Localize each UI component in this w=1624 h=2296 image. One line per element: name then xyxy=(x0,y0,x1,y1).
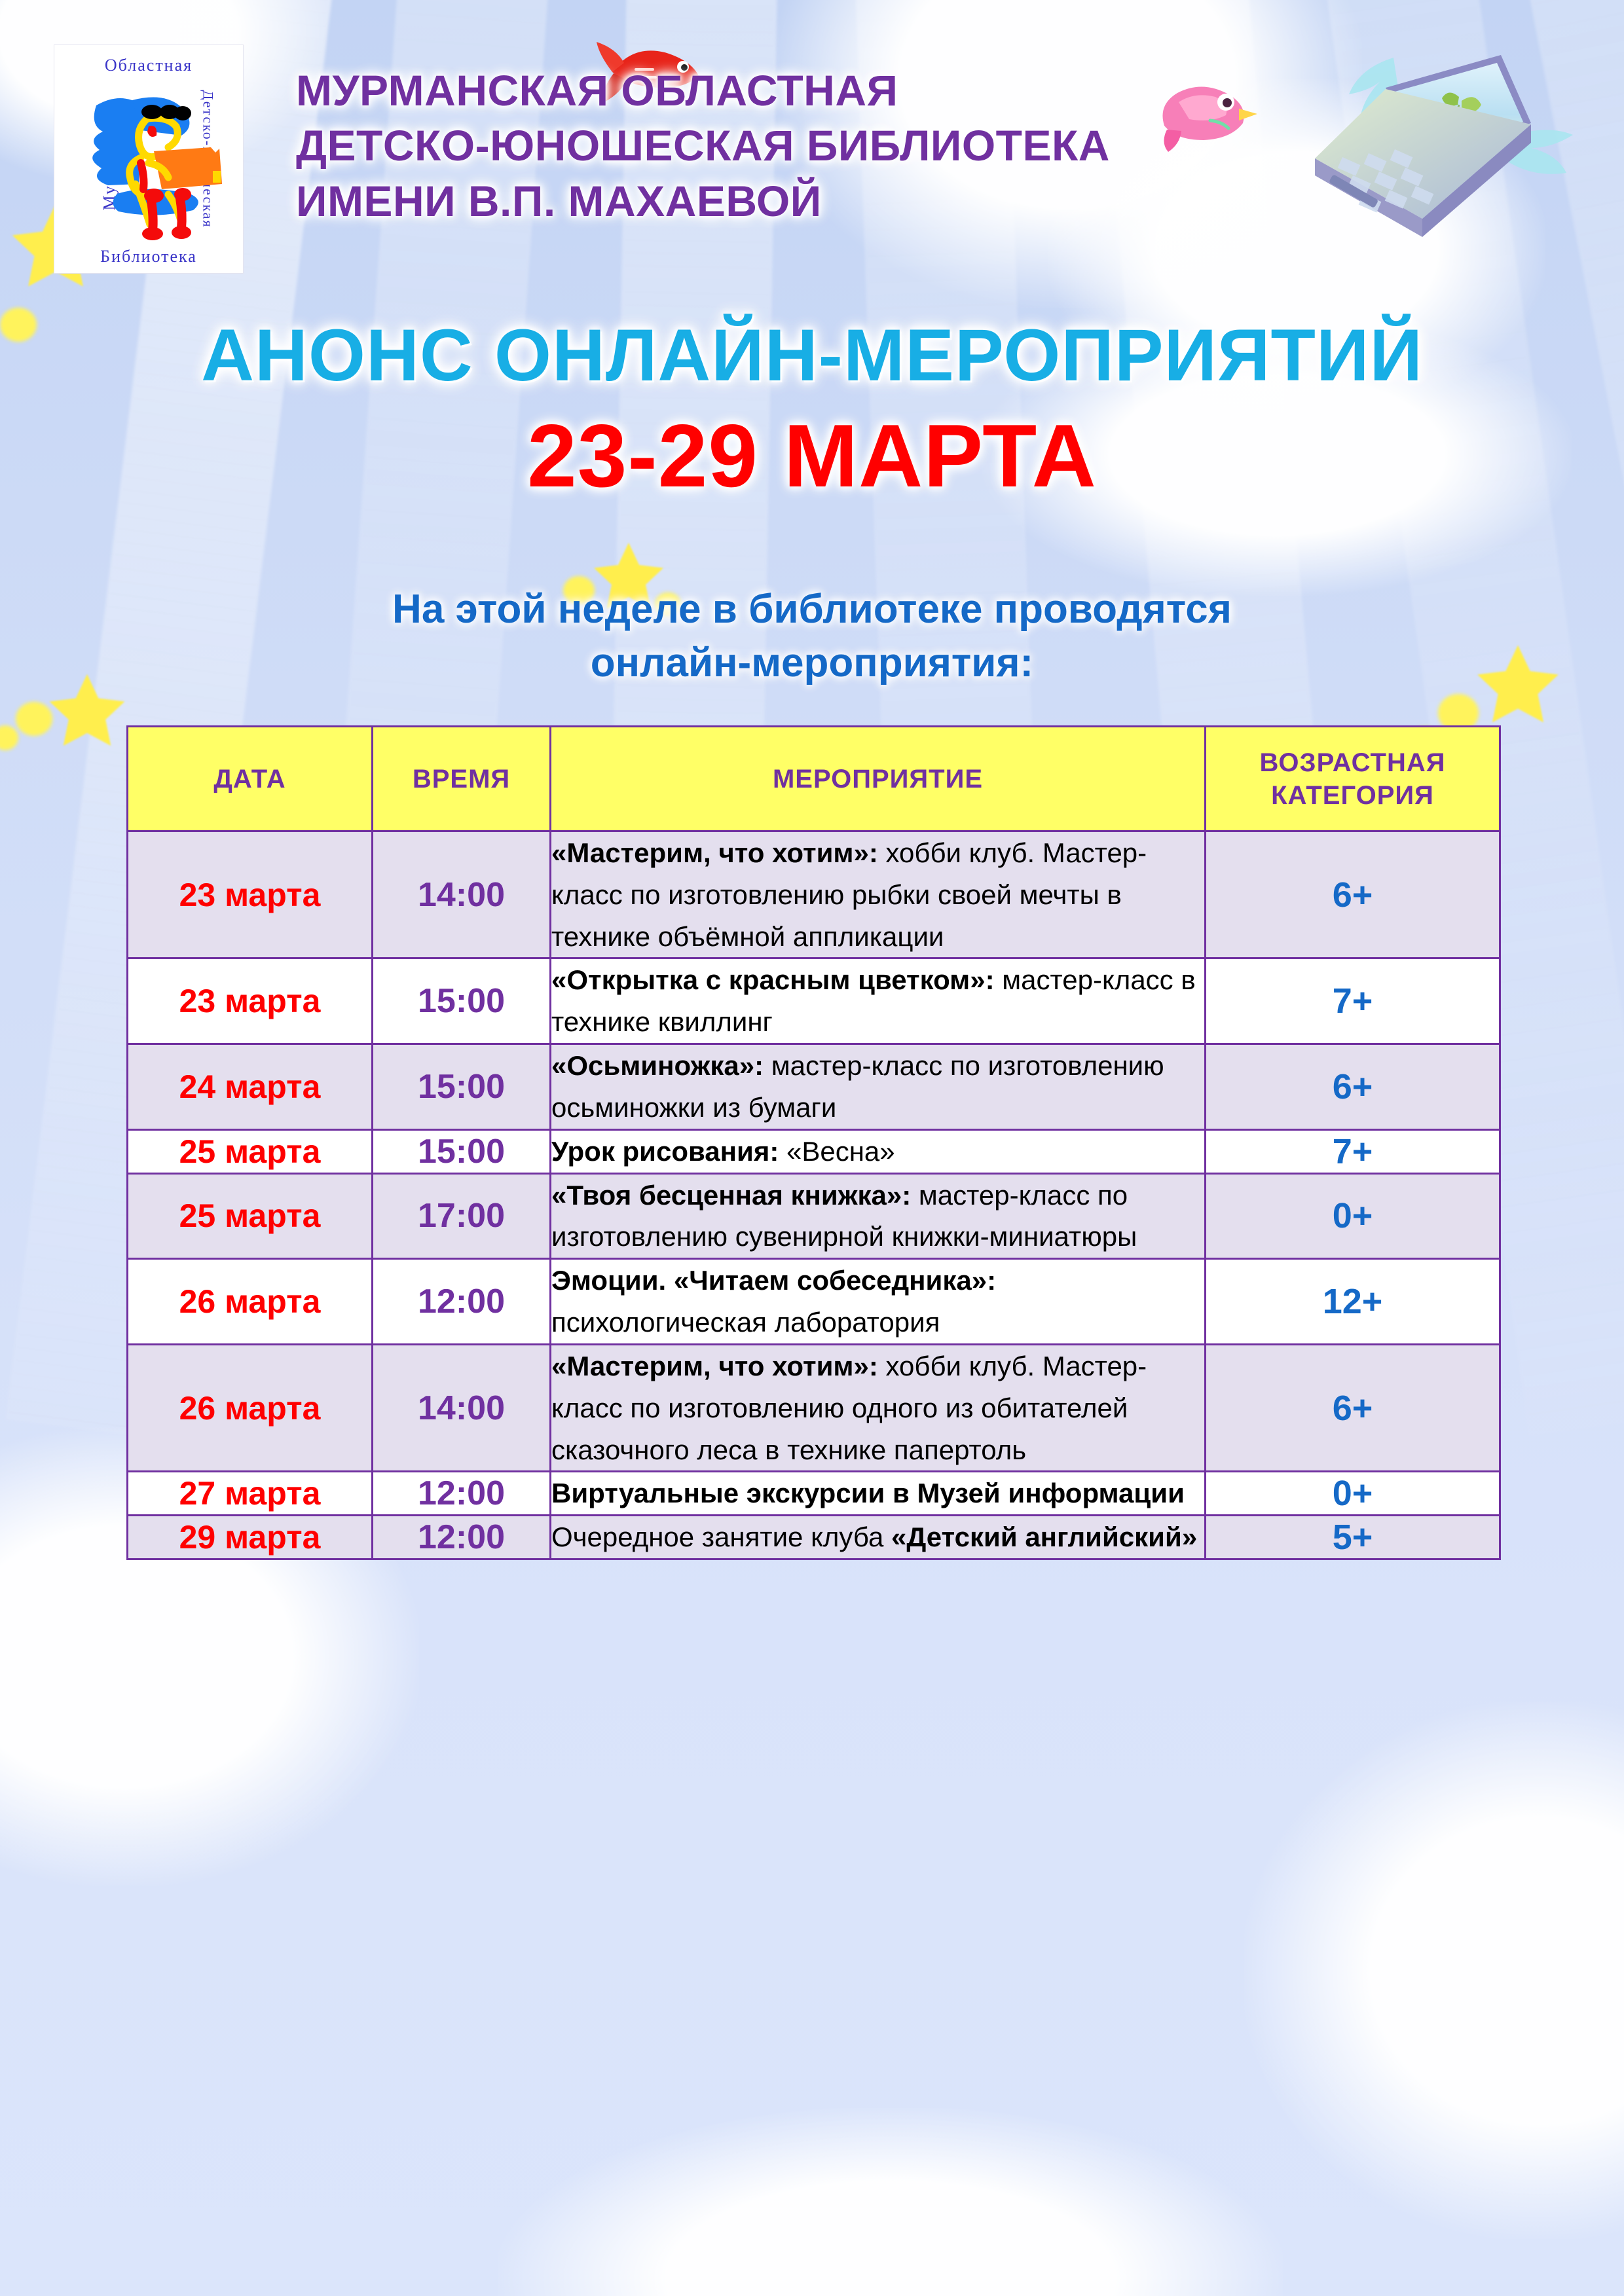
event-detail: психологическая лаборатория xyxy=(551,1307,940,1338)
column-header-date: ДАТА xyxy=(128,727,373,831)
event-date: 25 марта xyxy=(128,1173,373,1259)
age-category: 6+ xyxy=(1206,1044,1500,1130)
age-category: 12+ xyxy=(1206,1259,1500,1345)
event-date: 27 марта xyxy=(128,1472,373,1516)
poster-subtitle: На этой неделе в библиотеке проводятся о… xyxy=(0,583,1624,690)
event-date: 23 марта xyxy=(128,831,373,958)
event-detail: Очередное занятие клуба xyxy=(551,1522,891,1552)
pink-bird-icon xyxy=(1153,65,1264,157)
event-date: 26 марта xyxy=(128,1344,373,1471)
table-row: 24 марта15:00«Осьминожка»: мастер-класс … xyxy=(128,1044,1500,1130)
event-title: Виртуальные экскурсии в Музей информации xyxy=(551,1478,1185,1508)
column-header-time: ВРЕМЯ xyxy=(373,727,551,831)
event-description: Очередное занятие клуба «Детский английс… xyxy=(551,1516,1206,1559)
event-date: 25 марта xyxy=(128,1129,373,1173)
winged-laptop-icon xyxy=(1270,18,1598,280)
column-header-age-line-1: ВОЗРАСТНАЯ xyxy=(1206,746,1499,779)
event-title: «Мастерим, что хотим»: xyxy=(551,1351,878,1381)
age-category: 6+ xyxy=(1206,1344,1500,1471)
event-title: «Мастерим, что хотим»: xyxy=(551,837,878,868)
cloud xyxy=(1244,1702,1624,2239)
event-time: 14:00 xyxy=(373,831,551,958)
table-row: 25 марта17:00«Твоя бесценная книжка»: ма… xyxy=(128,1173,1500,1259)
event-time: 12:00 xyxy=(373,1472,551,1516)
age-category: 7+ xyxy=(1206,1129,1500,1173)
table-header-row: ДАТА ВРЕМЯ МЕРОПРИЯТИЕ ВОЗРАСТНАЯ КАТЕГО… xyxy=(128,727,1500,831)
table-row: 26 марта12:00Эмоции. «Читаем собеседника… xyxy=(128,1259,1500,1345)
age-category: 5+ xyxy=(1206,1516,1500,1559)
event-title-tail: «Детский английский» xyxy=(891,1522,1197,1552)
logo-label-bottom: Библиотека xyxy=(100,247,197,266)
event-description: «Мастерим, что хотим»: хобби клуб. Масте… xyxy=(551,831,1206,958)
event-title: Эмоции. «Читаем собеседника»: xyxy=(551,1265,996,1296)
library-logo: Областная Мурманская Детско-юношеская Би… xyxy=(54,45,244,274)
event-time: 14:00 xyxy=(373,1344,551,1471)
event-time: 15:00 xyxy=(373,958,551,1044)
event-description: Виртуальные экскурсии в Музей информации xyxy=(551,1472,1206,1516)
reading-child-illustration xyxy=(70,79,227,243)
event-title: «Твоя бесценная книжка»: xyxy=(551,1180,911,1211)
event-date: 24 марта xyxy=(128,1044,373,1130)
event-time: 15:00 xyxy=(373,1129,551,1173)
event-description: «Мастерим, что хотим»: хобби клуб. Масте… xyxy=(551,1344,1206,1471)
poster-subtitle-line-2: онлайн-мероприятия: xyxy=(0,636,1624,690)
table-row: 23 марта14:00«Мастерим, что хотим»: хобб… xyxy=(128,831,1500,958)
column-header-age: ВОЗРАСТНАЯ КАТЕГОРИЯ xyxy=(1206,727,1500,831)
sparkle-dot xyxy=(16,702,52,736)
age-category: 6+ xyxy=(1206,831,1500,958)
event-detail: «Весна» xyxy=(779,1136,895,1167)
event-date: 29 марта xyxy=(128,1516,373,1559)
column-header-event: МЕРОПРИЯТИЕ xyxy=(551,727,1206,831)
event-description: Урок рисования: «Весна» xyxy=(551,1129,1206,1173)
table-row: 25 марта15:00Урок рисования: «Весна»7+ xyxy=(128,1129,1500,1173)
event-title: Урок рисования: xyxy=(551,1136,779,1167)
organization-title-line-3: ИМЕНИ В.П. МАХАЕВОЙ xyxy=(296,173,1110,228)
organization-title: МУРМАНСКАЯ ОБЛАСТНАЯ ДЕТСКО-ЮНОШЕСКАЯ БИ… xyxy=(296,63,1110,228)
events-schedule-table: ДАТА ВРЕМЯ МЕРОПРИЯТИЕ ВОЗРАСТНАЯ КАТЕГО… xyxy=(126,725,1501,1560)
poster-date-range: 23-29 МАРТА xyxy=(0,405,1624,507)
age-category: 0+ xyxy=(1206,1173,1500,1259)
organization-title-line-1: МУРМАНСКАЯ ОБЛАСТНАЯ xyxy=(296,63,1110,118)
logo-label-top: Областная xyxy=(105,56,193,75)
table-row: 23 марта15:00«Открытка с красным цветком… xyxy=(128,958,1500,1044)
table-row: 27 марта12:00Виртуальные экскурсии в Муз… xyxy=(128,1472,1500,1516)
event-date: 26 марта xyxy=(128,1259,373,1345)
event-time: 12:00 xyxy=(373,1516,551,1559)
age-category: 7+ xyxy=(1206,958,1500,1044)
event-description: «Осьминожка»: мастер-класс по изготовлен… xyxy=(551,1044,1206,1130)
event-time: 12:00 xyxy=(373,1259,551,1345)
event-title: «Осьминожка»: xyxy=(551,1050,764,1081)
age-category: 0+ xyxy=(1206,1472,1500,1516)
sparkle-dot xyxy=(0,725,18,750)
event-time: 15:00 xyxy=(373,1044,551,1130)
event-description: Эмоции. «Читаем собеседника»: психологич… xyxy=(551,1259,1206,1345)
event-description: «Открытка с красным цветком»: мастер-кла… xyxy=(551,958,1206,1044)
event-date: 23 марта xyxy=(128,958,373,1044)
organization-title-line-2: ДЕТСКО-ЮНОШЕСКАЯ БИБЛИОТЕКА xyxy=(296,118,1110,173)
poster-subtitle-line-1: На этой неделе в библиотеке проводятся xyxy=(0,583,1624,636)
poster-header: Областная Мурманская Детско-юношеская Би… xyxy=(0,0,1624,295)
cloud xyxy=(498,2108,1283,2296)
column-header-age-line-2: КАТЕГОРИЯ xyxy=(1206,779,1499,812)
event-title: «Открытка с красным цветком»: xyxy=(551,964,995,995)
event-time: 17:00 xyxy=(373,1173,551,1259)
table-row: 29 марта12:00Очередное занятие клуба «Де… xyxy=(128,1516,1500,1559)
event-description: «Твоя бесценная книжка»: мастер-класс по… xyxy=(551,1173,1206,1259)
poster-headline: АНОНС ОНЛАЙН-МЕРОПРИЯТИЙ xyxy=(0,313,1624,397)
table-row: 26 марта14:00«Мастерим, что хотим»: хобб… xyxy=(128,1344,1500,1471)
